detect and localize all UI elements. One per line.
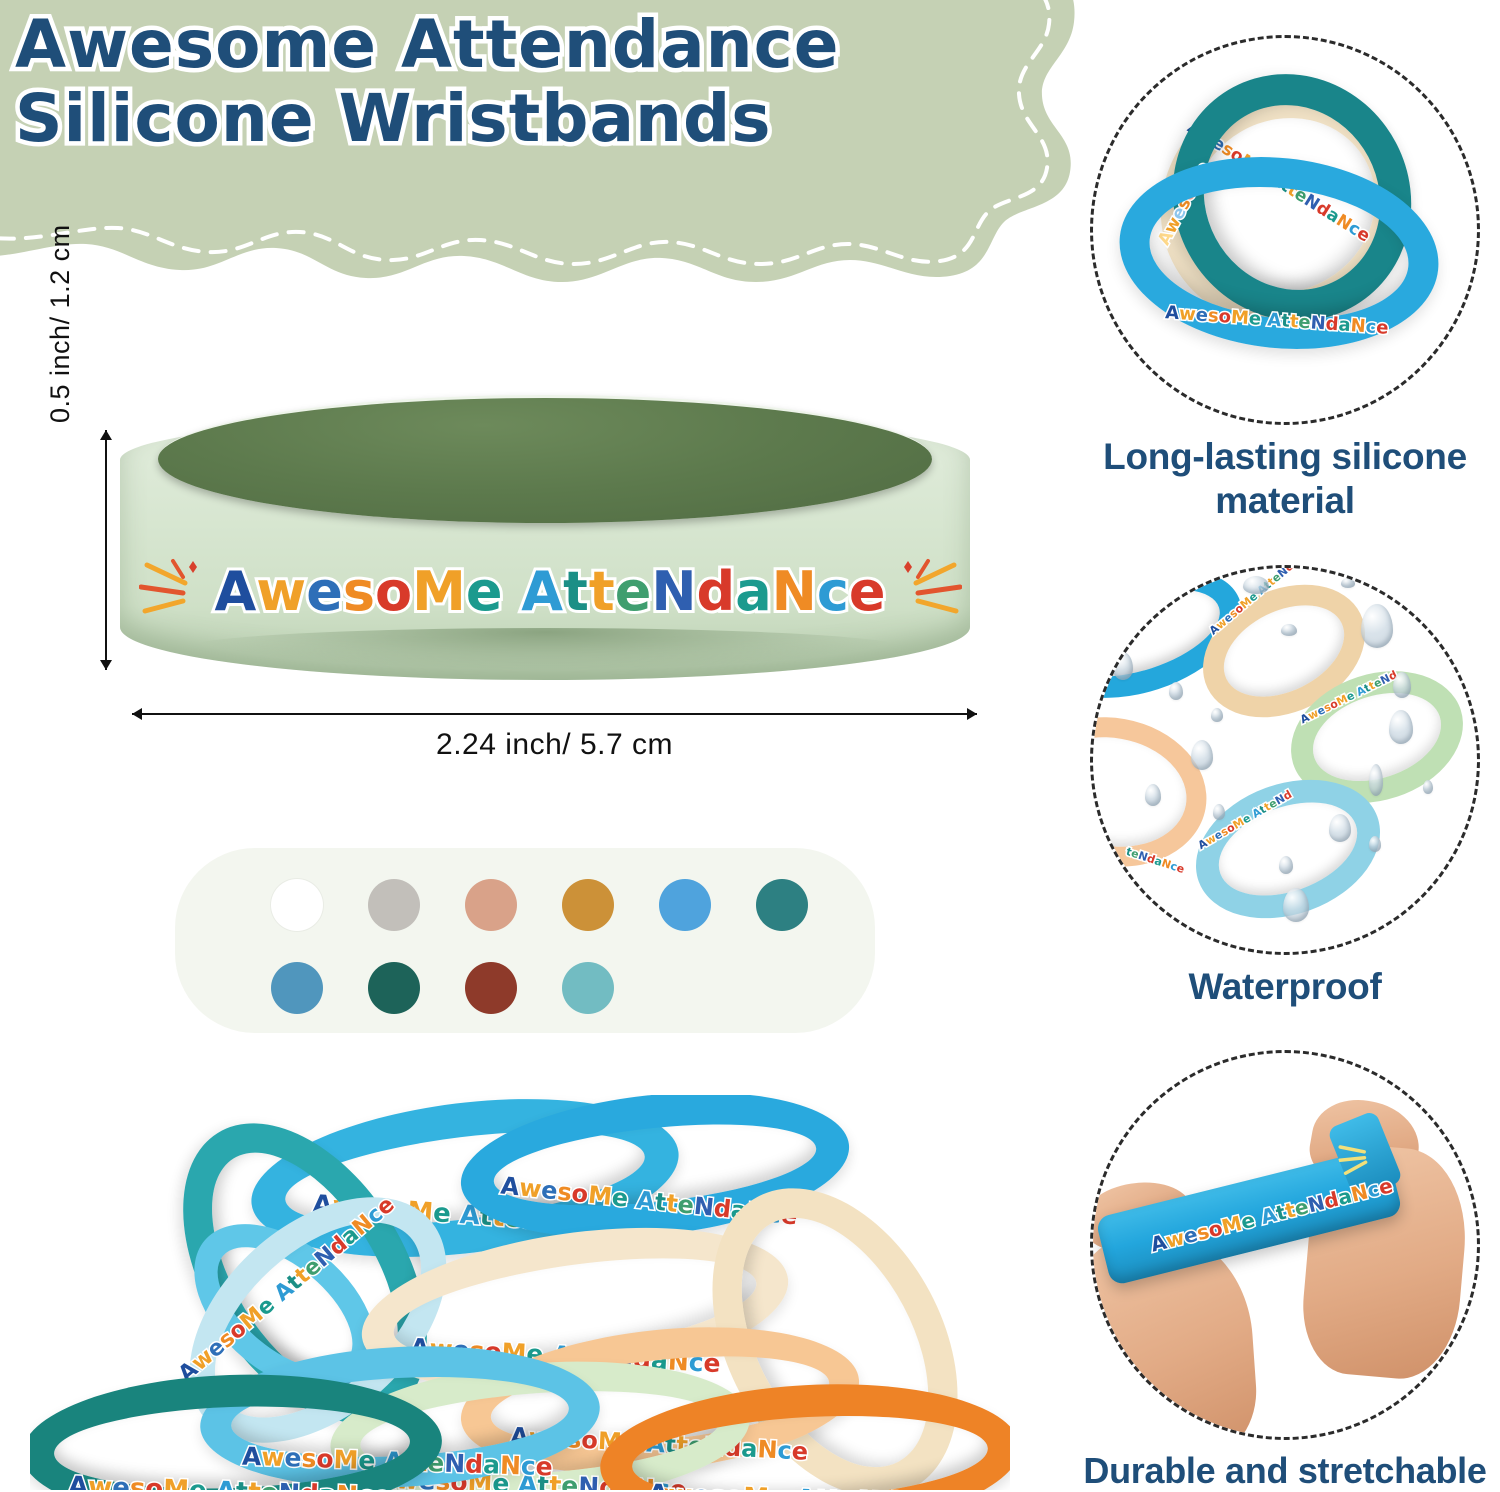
feature-long-lasting-label-line2: material [1075, 479, 1495, 523]
logo-letter: M [412, 565, 466, 619]
color-swatch-teal[interactable] [756, 879, 808, 931]
pile-band-dark-teal [30, 1368, 444, 1490]
logo-letter: o [375, 565, 412, 619]
color-swatch-row-2 [175, 962, 875, 1018]
water-droplet [1211, 708, 1223, 722]
width-dimension-line [132, 713, 977, 715]
feature-durable-label-line1: Durable and stretchable [1075, 1450, 1495, 1492]
logo-letter: t [563, 565, 589, 619]
width-dimension-label: 2.24 inch/ 5.7 cm [132, 728, 977, 762]
wristband-logo-text: AwesoMe AtteNdaNce [215, 565, 886, 619]
wristband-pile-photo: AwesoMe AtteNdaNce AwesoMe AtteNdaNce Aw… [30, 1095, 1010, 1490]
wristband-inner-hole [158, 395, 932, 523]
color-swatch-light-teal[interactable] [562, 962, 614, 1014]
logo-letter: N [651, 565, 696, 619]
logo-letter: A [521, 565, 563, 619]
logo-letter: e [306, 565, 343, 619]
color-swatch-steel-blue[interactable] [271, 962, 323, 1014]
starburst-icon-left [139, 555, 201, 629]
logo-letter: e [849, 565, 886, 619]
water-droplet [1361, 604, 1393, 648]
logo-letter: d [697, 565, 736, 619]
water-droplet [1279, 856, 1293, 874]
color-swatch-white[interactable] [271, 879, 323, 931]
water-droplet [1329, 814, 1351, 842]
feature-durable-stretchable: AwesoMe AtteNdaNce Durable and stretchab… [1075, 1050, 1495, 1492]
logo-letter: c [817, 565, 849, 619]
color-swatch-sky-blue[interactable] [659, 879, 711, 931]
water-droplet [1283, 888, 1309, 922]
water-droplet [1191, 740, 1213, 770]
logo-letter: w [256, 565, 306, 619]
title-line-2: Silicone Wristbands [15, 82, 1005, 156]
color-swatch-golden-brown[interactable] [562, 879, 614, 931]
title-banner: Awesome Attendance Silicone Wristbands [0, 0, 1080, 290]
feature-long-lasting: AwesoMe AtteNdaNce AwesoMe AwesoMe AtteN… [1075, 35, 1495, 522]
logo-letter: N [772, 565, 817, 619]
logo-letter: s [343, 565, 375, 619]
logo-letter: a [735, 565, 771, 619]
water-droplet [1243, 576, 1269, 594]
color-swatch-light-gray[interactable] [368, 879, 420, 931]
water-droplet [1145, 784, 1161, 806]
logo-letter [502, 565, 521, 619]
water-droplet [1369, 836, 1381, 852]
color-swatch-rust-brown[interactable] [465, 962, 517, 1014]
water-droplet [1341, 578, 1355, 588]
water-droplet [1113, 652, 1133, 680]
page-title: Awesome Attendance Silicone Wristbands [15, 8, 1005, 156]
feature-durable-photo: AwesoMe AtteNdaNce [1090, 1050, 1480, 1440]
water-droplet [1369, 764, 1383, 796]
color-swatch-row-1 [175, 879, 875, 935]
product-main-photo: AwesoMe AtteNdaNce [120, 395, 990, 695]
logo-letter: e [615, 565, 652, 619]
feature-durable-label: Durable and stretchable [1075, 1450, 1495, 1492]
feature-waterproof-label: Waterproof [1075, 965, 1495, 1009]
height-dimension-line [105, 430, 107, 670]
color-swatch-salmon[interactable] [465, 879, 517, 931]
logo-letter: e [466, 565, 503, 619]
logo-letter: t [589, 565, 615, 619]
feature-long-lasting-photo: AwesoMe AtteNdaNce AwesoMe AwesoMe AtteN… [1090, 35, 1480, 425]
color-swatch-panel [175, 848, 875, 1033]
title-line-1: Awesome Attendance [15, 8, 1005, 82]
water-droplet [1281, 624, 1297, 636]
water-droplet [1423, 780, 1433, 794]
water-droplet [1393, 672, 1411, 698]
height-dimension-label: 0.5 inch/ 1.2 cm [45, 173, 76, 423]
starburst-icon-right [900, 555, 962, 629]
logo-letter: A [215, 565, 257, 619]
feature-long-lasting-label: Long-lasting silicone material [1075, 435, 1495, 522]
water-droplet [1169, 682, 1183, 700]
feature1-band-blue [1110, 142, 1448, 364]
color-swatch-dark-teal[interactable] [368, 962, 420, 1014]
feature-long-lasting-label-line1: Long-lasting silicone [1075, 435, 1495, 479]
feature-waterproof-label-line1: Waterproof [1075, 965, 1495, 1009]
water-droplet [1389, 710, 1413, 744]
water-droplet [1213, 804, 1225, 820]
feature-waterproof: AtteNdaNce AwesoMe AtteNd teNdaNce Aweso… [1075, 565, 1495, 1009]
feature-waterproof-photo: AtteNdaNce AwesoMe AtteNd teNdaNce Aweso… [1090, 565, 1480, 955]
wristband-logo: AwesoMe AtteNdaNce [180, 547, 920, 637]
